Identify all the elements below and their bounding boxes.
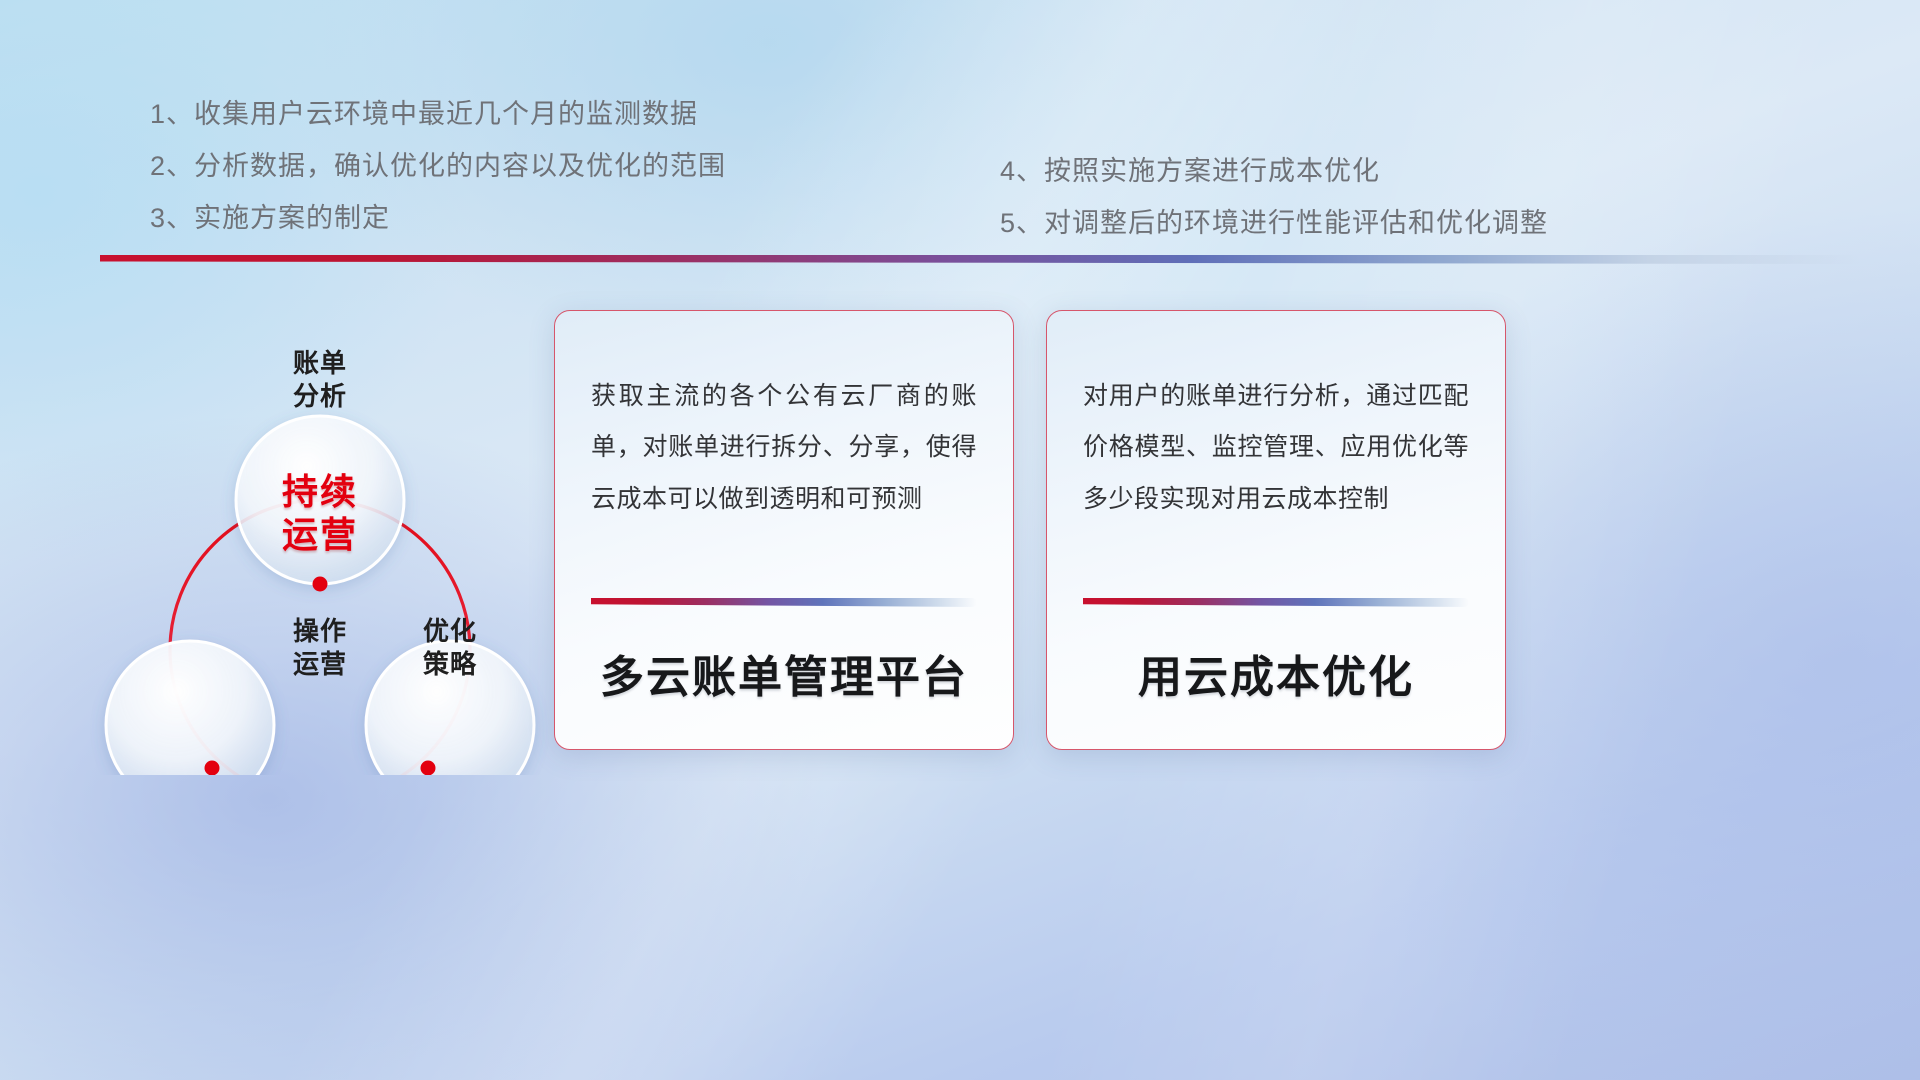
card-body-text: 获取主流的各个公有云厂商的账单，对账单进行拆分、分享，使得云成本可以做到透明和可… [591,371,977,525]
section-divider [100,255,1860,264]
step-item-4: 4、按照实施方案进行成本优化 [1000,155,1548,189]
venn-node-dot-top [313,577,328,592]
venn-node-dot-right [421,761,436,776]
step-item-1: 1、收集用户云环境中最近几个月的监测数据 [150,98,726,132]
slide-canvas: 1、收集用户云环境中最近几个月的监测数据 2、分析数据，确认优化的内容以及优化的… [0,0,1920,1080]
card-accent-rule [1083,598,1469,607]
venn-node-dot-left [205,761,220,776]
venn-bubble-billing-analysis[interactable] [236,416,404,584]
card-title: 用云成本优化 [1083,641,1469,705]
card-cloud-cost-optimization[interactable]: 对用户的账单进行分析，通过匹配价格模型、监控管理、应用优化等多少段实现对用云成本… [1046,310,1506,750]
card-accent-rule [591,598,977,607]
venn-bubble-optimization-strategy[interactable] [366,641,534,775]
step-item-3: 3、实施方案的制定 [150,202,726,236]
card-multi-cloud-billing-platform[interactable]: 获取主流的各个公有云厂商的账单，对账单进行拆分、分享，使得云成本可以做到透明和可… [554,310,1014,750]
step-item-5: 5、对调整后的环境进行性能评估和优化调整 [1000,207,1548,241]
steps-right-column: 4、按照实施方案进行成本优化 5、对调整后的环境进行性能评估和优化调整 [1000,155,1548,241]
venn-diagram: 操作 运营 账单 分析 持续 运营 优化 策略 [80,285,560,775]
card-body-text: 对用户的账单进行分析，通过匹配价格模型、监控管理、应用优化等多少段实现对用云成本… [1083,371,1469,525]
step-item-2: 2、分析数据，确认优化的内容以及优化的范围 [150,150,726,184]
venn-bubble-operation-management[interactable] [106,641,274,775]
steps-left-column: 1、收集用户云环境中最近几个月的监测数据 2、分析数据，确认优化的内容以及优化的… [150,98,726,235]
card-title: 多云账单管理平台 [591,641,977,705]
venn-svg [80,285,560,775]
